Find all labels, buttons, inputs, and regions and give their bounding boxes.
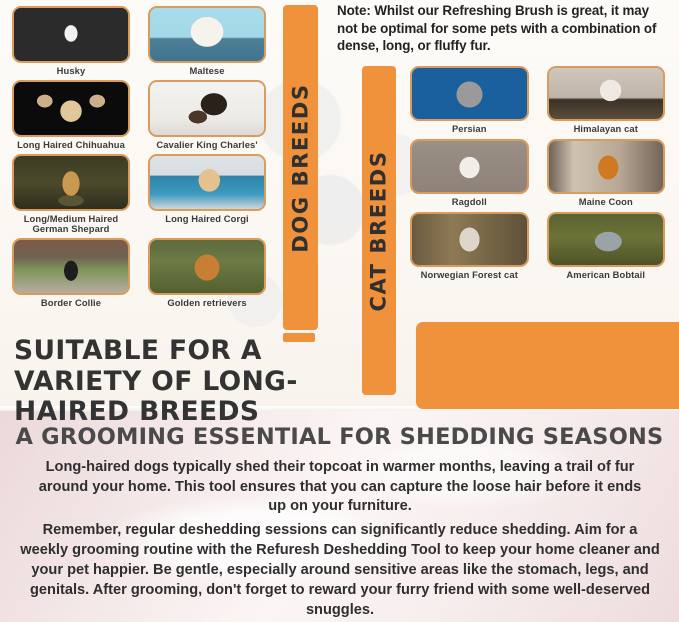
- breed-photo-chihuahua: [12, 80, 130, 137]
- breed-caption: Long Haired Chihuahua: [17, 140, 125, 150]
- breed-photo-american-bobtail: [547, 212, 666, 267]
- dog-breeds-banner-label: DOG BREEDS: [289, 83, 313, 252]
- cat-breeds-grid: Persian Himalayan cat Ragdoll Maine Coon…: [410, 66, 665, 280]
- breed-photo-husky: [12, 6, 130, 63]
- breed-card: American Bobtail: [547, 212, 666, 280]
- breed-caption: Ragdoll: [452, 197, 487, 207]
- breed-photo-corgi: [148, 154, 266, 211]
- breed-caption: Golden retrievers: [167, 298, 246, 308]
- grooming-essential-title: A GROOMING ESSENTIAL FOR SHEDDING SEASON…: [0, 424, 679, 450]
- breed-caption: Husky: [57, 66, 86, 76]
- breed-caption: Long Haired Corgi: [165, 214, 248, 224]
- breed-card: Long Haired Corgi: [148, 154, 266, 234]
- breed-card: Maine Coon: [547, 139, 666, 207]
- grooming-paragraph-1: Long-haired dogs typically shed their to…: [30, 458, 650, 517]
- breed-card: Ragdoll: [410, 139, 529, 207]
- breed-photo-german-shepard: [12, 154, 130, 211]
- refreshing-brush-note: Note: Whilst our Refreshing Brush is gre…: [337, 2, 673, 55]
- infographic-page: Note: Whilst our Refreshing Brush is gre…: [0, 0, 679, 622]
- breed-caption: Himalayan cat: [574, 124, 638, 134]
- breed-photo-ragdoll: [410, 139, 529, 194]
- breed-card: Long Haired Chihuahua: [12, 80, 130, 150]
- breed-photo-golden-retriever: [148, 238, 266, 295]
- breed-photo-himalayan: [547, 66, 666, 121]
- breed-photo-border-collie: [12, 238, 130, 295]
- dog-breeds-grid: Husky Maltese Long Haired Chihuahua Cava…: [12, 6, 266, 307]
- breed-photo-maltese: [148, 6, 266, 63]
- dog-breeds-banner: DOG BREEDS: [283, 5, 318, 330]
- orange-block-decoration: [416, 322, 679, 409]
- breed-card: Husky: [12, 6, 130, 76]
- breed-photo-maine-coon: [547, 139, 666, 194]
- cat-breeds-banner: CAT BREEDS: [362, 66, 396, 395]
- breed-card: Cavalier King Charles': [148, 80, 266, 150]
- breed-card: Norwegian Forest cat: [410, 212, 529, 280]
- breed-card: Golden retrievers: [148, 238, 266, 308]
- breed-caption: Maine Coon: [579, 197, 633, 207]
- breed-card: Maltese: [148, 6, 266, 76]
- breed-card: Border Collie: [12, 238, 130, 308]
- breed-photo-persian: [410, 66, 529, 121]
- breed-caption: Maltese: [189, 66, 224, 76]
- breed-caption: Cavalier King Charles': [156, 140, 257, 150]
- breed-card: Long/Medium Haired German Shepard: [12, 154, 130, 234]
- suitable-headline: SUITABLE FOR A VARIETY OF LONG-HAIRED BR…: [14, 336, 364, 428]
- grooming-paragraph-2: Remember, regular deshedding sessions ca…: [18, 521, 662, 621]
- breed-photo-norwegian-forest: [410, 212, 529, 267]
- cat-breeds-banner-label: CAT BREEDS: [367, 150, 391, 311]
- breed-caption: Persian: [452, 124, 487, 134]
- breed-photo-cavalier: [148, 80, 266, 137]
- breed-caption: Border Collie: [41, 298, 101, 308]
- breed-caption: Norwegian Forest cat: [421, 270, 518, 280]
- breed-card: Himalayan cat: [547, 66, 666, 134]
- breed-caption: American Bobtail: [566, 270, 645, 280]
- breed-card: Persian: [410, 66, 529, 134]
- breed-caption: Long/Medium Haired German Shepard: [24, 214, 119, 234]
